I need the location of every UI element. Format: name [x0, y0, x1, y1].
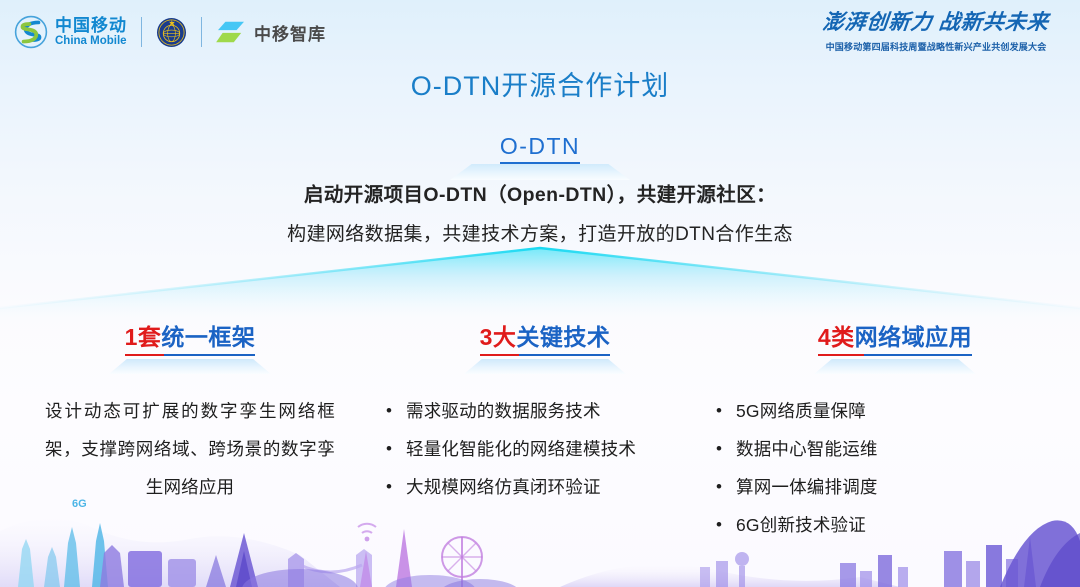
column-1-underline	[125, 354, 256, 356]
column-1-paragraph: 设计动态可扩展的数字孪生网络框架，支撑跨网络域、跨场景的数字孪生网络应用	[45, 392, 335, 506]
list-item: 5G网络质量保障	[710, 392, 920, 430]
hub-node: O-DTN	[0, 133, 1080, 164]
column-2-bullet-list: 需求驱动的数据服务技术 轻量化智能化的网络建模技术 大规模网络仿真闭环验证	[380, 392, 642, 506]
slide-header: 中国移动 China Mobile 中移智库 澎湃创新力 战新共未来	[0, 0, 1080, 60]
column-3-title: 网络域应用	[855, 324, 973, 350]
zhiku-logo-icon	[216, 19, 246, 45]
column-2-heading: 3大关键技术	[380, 318, 710, 356]
hub-label: O-DTN	[500, 133, 580, 164]
column-1-title: 统一框架	[161, 324, 255, 350]
china-mobile-en: China Mobile	[55, 36, 127, 48]
column-2-plinth	[464, 359, 626, 374]
header-divider-1	[141, 17, 142, 47]
column-framework: 1套统一框架 设计动态可扩展的数字孪生网络框架，支撑跨网络域、跨场景的数字孪生网…	[0, 318, 380, 528]
column-network-apps: 4类网络域应用 5G网络质量保障 数据中心智能运维 算网一体编排调度 6G创新技…	[710, 318, 1080, 528]
chevron-connector	[0, 246, 1080, 326]
china-mobile-wordmark: 中国移动 China Mobile	[55, 17, 127, 48]
list-item: 需求驱动的数据服务技术	[380, 392, 642, 430]
slide-root: 中国移动 China Mobile 中移智库 澎湃创新力 战新共未来	[0, 0, 1080, 587]
page-title: O-DTN开源合作计划	[0, 64, 1080, 103]
china-mobile-logo-icon	[14, 15, 48, 49]
logo-row: 中国移动 China Mobile 中移智库	[14, 14, 326, 50]
government-emblem-icon	[156, 17, 187, 48]
column-1-body: 设计动态可扩展的数字孪生网络框架，支撑跨网络域、跨场景的数字孪生网络应用	[0, 392, 380, 506]
column-3-heading: 4类网络域应用	[710, 318, 1080, 356]
column-key-tech: 3大关键技术 需求驱动的数据服务技术 轻量化智能化的网络建模技术 大规模网络仿真…	[380, 318, 710, 528]
list-item: 6G创新技术验证	[710, 506, 920, 544]
column-2-underline	[480, 354, 611, 356]
column-1-number: 1套	[125, 324, 162, 350]
column-1-plinth	[109, 359, 271, 374]
list-item: 数据中心智能运维	[710, 430, 920, 468]
column-3-bullet-list: 5G网络质量保障 数据中心智能运维 算网一体编排调度 6G创新技术验证	[710, 392, 920, 544]
hub-desc-line-2: 构建网络数据集，共建技术方案，打造开放的DTN合作生态	[0, 219, 1080, 246]
zhiku-label: 中移智库	[254, 20, 326, 45]
list-item: 算网一体编排调度	[710, 468, 920, 506]
list-item: 大规模网络仿真闭环验证	[380, 468, 642, 506]
list-item: 轻量化智能化的网络建模技术	[380, 430, 642, 468]
column-2-number: 3大	[480, 324, 517, 350]
columns-container: 1套统一框架 设计动态可扩展的数字孪生网络框架，支撑跨网络域、跨场景的数字孪生网…	[0, 318, 1080, 528]
column-3-plinth	[814, 359, 976, 374]
hub-desc-line-1: 启动开源项目O-DTN（Open-DTN），共建开源社区：	[0, 178, 1080, 207]
column-3-underline	[818, 354, 972, 356]
china-mobile-cn: 中国移动	[55, 17, 127, 34]
event-calligraphy: 澎湃创新力 战新共未来	[806, 6, 1065, 36]
column-3-number: 4类	[818, 324, 855, 350]
event-subtitle: 中国移动第四届科技周暨战略性新兴产业共创发展大会	[808, 40, 1064, 53]
column-3-body: 5G网络质量保障 数据中心智能运维 算网一体编排调度 6G创新技术验证	[710, 392, 1080, 544]
header-divider-2	[201, 17, 202, 47]
column-2-body: 需求驱动的数据服务技术 轻量化智能化的网络建模技术 大规模网络仿真闭环验证	[380, 392, 710, 506]
column-1-heading: 1套统一框架	[0, 318, 380, 356]
column-2-title: 关键技术	[516, 324, 610, 350]
event-branding: 澎湃创新力 战新共未来 中国移动第四届科技周暨战略性新兴产业共创发展大会	[808, 6, 1064, 53]
